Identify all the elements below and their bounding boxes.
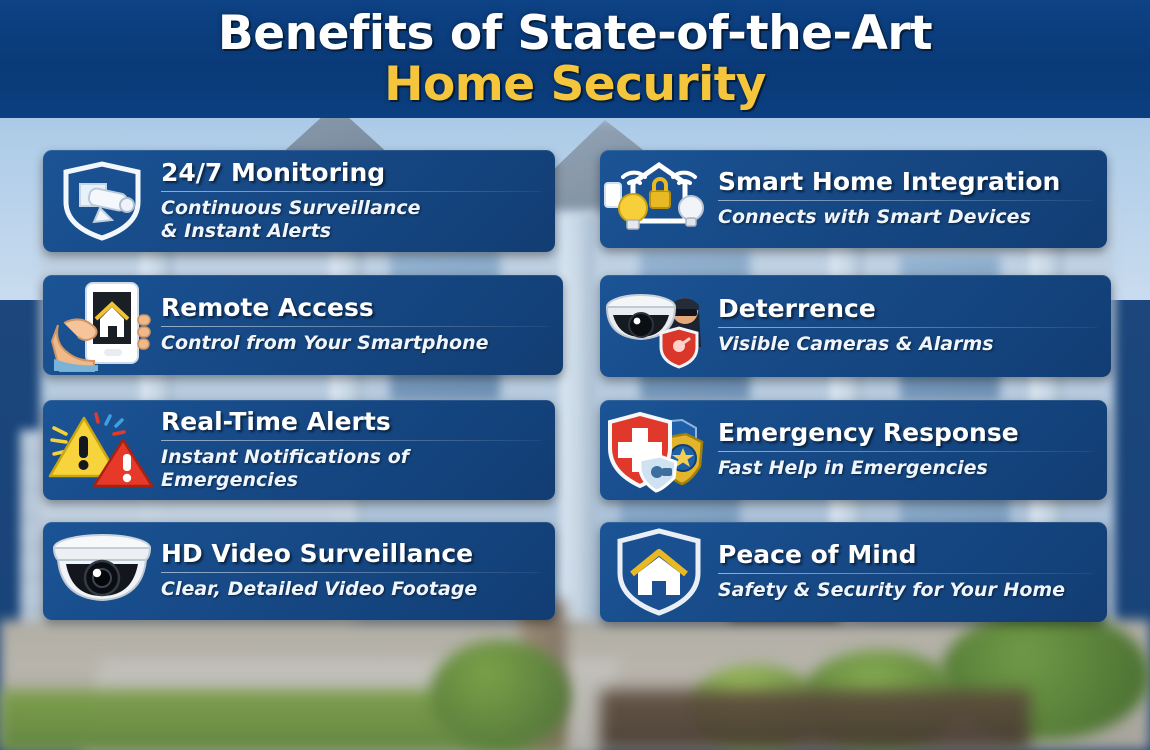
card-subtitle: Clear, Detailed Video Footage (161, 578, 541, 600)
card-text: Smart Home Integration Connects with Sma… (718, 169, 1107, 229)
title-divider (718, 573, 1093, 574)
card-text: 24/7 Monitoring Continuous Surveillance … (161, 160, 555, 242)
card-subtitle: Connects with Smart Devices (718, 206, 1093, 228)
card-text: Real-Time Alerts Instant Notifications o… (161, 409, 555, 491)
benefit-card-remote-access[interactable]: Remote Access Control from Your Smartpho… (43, 275, 563, 375)
card-text: Emergency Response Fast Help in Emergenc… (718, 420, 1107, 480)
infographic-stage: Benefits of State-of-the-Art Home Securi… (0, 0, 1150, 750)
title-divider (718, 451, 1093, 452)
title-divider (161, 326, 549, 327)
page-title-line-2: Home Security (0, 57, 1150, 112)
benefit-card-hd-video[interactable]: HD Video Surveillance Clear, Detailed Vi… (43, 522, 555, 620)
benefit-card-peace-of-mind[interactable]: Peace of Mind Safety & Security for Your… (600, 522, 1107, 622)
card-subtitle: Safety & Security for Your Home (718, 579, 1093, 601)
dome-camera-burglar-icon (600, 275, 718, 377)
card-title: Peace of Mind (718, 542, 1093, 568)
title-divider (718, 200, 1093, 201)
card-subtitle: Visible Cameras & Alarms (718, 333, 1097, 355)
benefit-card-smart-home[interactable]: Smart Home Integration Connects with Sma… (600, 150, 1107, 248)
card-title: Real-Time Alerts (161, 409, 541, 435)
hand-smartphone-house-icon (43, 275, 161, 375)
header-banner: Benefits of State-of-the-Art Home Securi… (0, 0, 1150, 118)
card-text: Remote Access Control from Your Smartpho… (161, 295, 563, 355)
benefit-card-emergency-response[interactable]: Emergency Response Fast Help in Emergenc… (600, 400, 1107, 500)
title-divider (161, 440, 541, 441)
card-title: Remote Access (161, 295, 549, 321)
card-subtitle: Control from Your Smartphone (161, 332, 549, 354)
benefit-card-real-time-alerts[interactable]: Real-Time Alerts Instant Notifications o… (43, 400, 555, 500)
benefit-card-monitoring[interactable]: 24/7 Monitoring Continuous Surveillance … (43, 150, 555, 252)
medical-cross-police-badge-icon (600, 400, 718, 500)
title-divider (718, 327, 1097, 328)
card-subtitle: Instant Notifications of Emergencies (161, 446, 541, 491)
title-divider (161, 572, 541, 573)
alarm-shield (661, 328, 697, 367)
page-title-line-1: Benefits of State-of-the-Art (0, 6, 1150, 61)
card-text: Deterrence Visible Cameras & Alarms (718, 296, 1111, 356)
benefit-card-deterrence[interactable]: Deterrence Visible Cameras & Alarms (600, 275, 1111, 377)
card-title: Emergency Response (718, 420, 1093, 446)
shield-house-icon (600, 522, 718, 622)
card-subtitle-line-1: Continuous Surveillance (161, 197, 541, 219)
warning-triangles-icon (43, 400, 161, 500)
card-text: Peace of Mind Safety & Security for Your… (718, 542, 1107, 602)
small-blue-shield (640, 456, 676, 491)
dome-camera-icon (43, 522, 161, 620)
card-title: Smart Home Integration (718, 169, 1093, 195)
card-title: HD Video Surveillance (161, 541, 541, 567)
smart-home-icon (600, 150, 718, 248)
title-divider (161, 191, 541, 192)
card-title: Deterrence (718, 296, 1097, 322)
card-text: HD Video Surveillance Clear, Detailed Vi… (161, 541, 555, 601)
card-title: 24/7 Monitoring (161, 160, 541, 186)
shield-camera-icon (43, 150, 161, 252)
card-subtitle-line-2: & Instant Alerts (161, 220, 541, 242)
card-subtitle: Fast Help in Emergencies (718, 457, 1093, 479)
